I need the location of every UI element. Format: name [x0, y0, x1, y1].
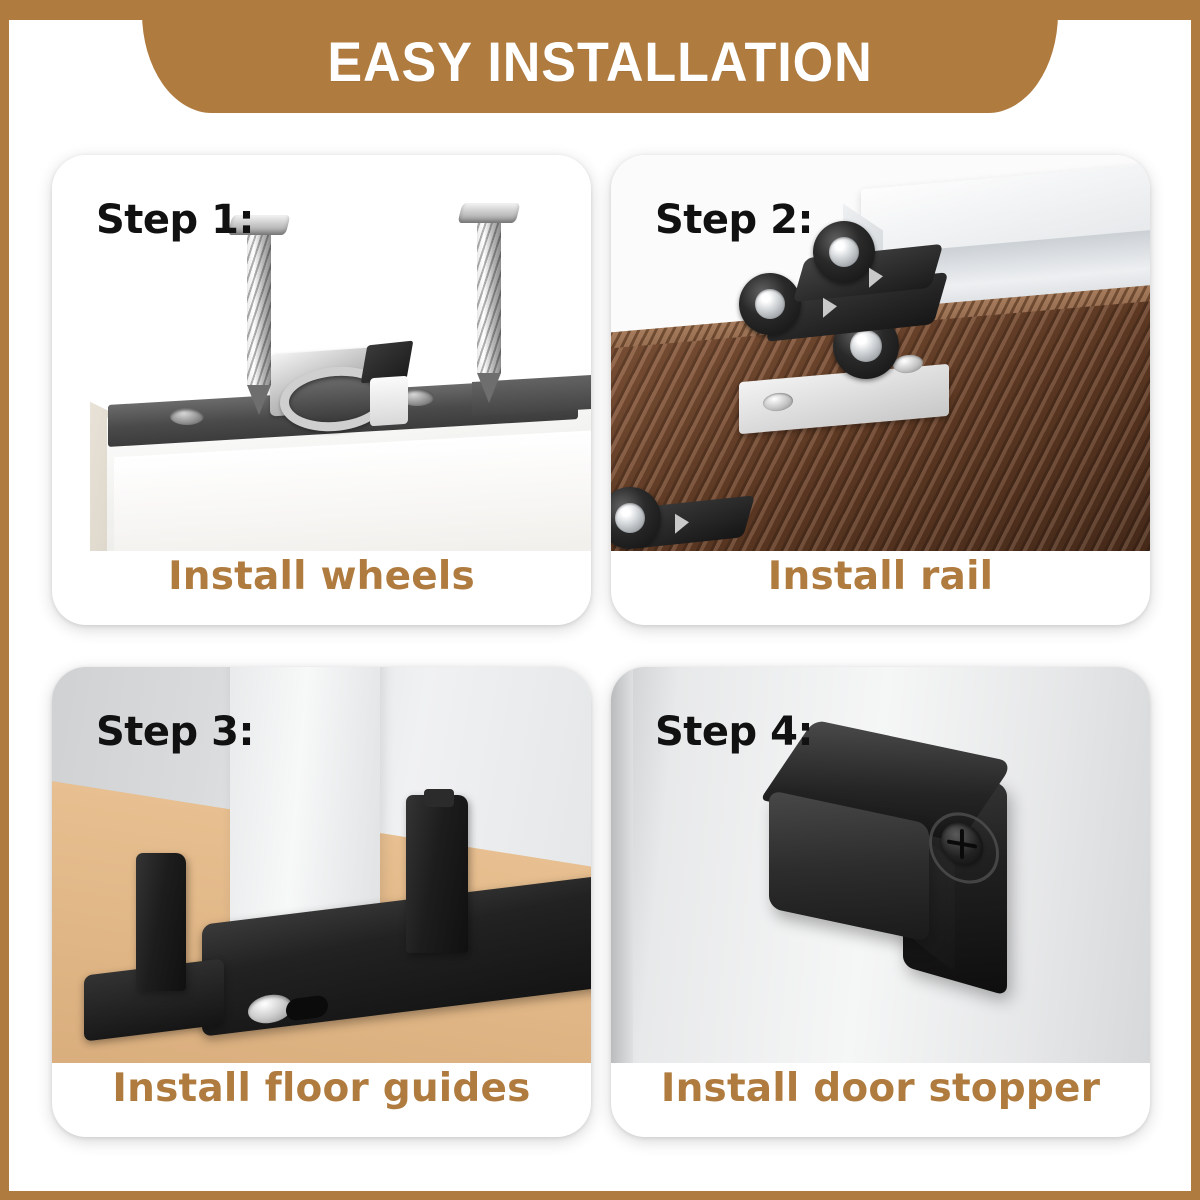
step-1-label: Step 1:: [96, 197, 254, 243]
floor-guide-post-left: [136, 853, 186, 991]
screw-head: [458, 203, 521, 223]
step-2-caption: Install rail: [611, 554, 1150, 599]
step-card-2[interactable]: Step 2: Install rail: [611, 155, 1150, 625]
screw-shaft: [247, 235, 271, 385]
white-clip: [370, 376, 408, 427]
screw-left-icon: [242, 215, 276, 415]
screw-shaft: [477, 223, 501, 373]
floor-guide-post-right: [406, 795, 468, 953]
carriage-arrow-1-icon: [823, 296, 837, 317]
step-3-label: Step 3:: [96, 709, 254, 755]
step-3-caption: Install floor guides: [52, 1066, 591, 1111]
carriage-arrow-3-icon: [675, 512, 689, 533]
floor-guide-post-cap: [424, 789, 454, 807]
roller-wheel-rear: [813, 221, 875, 283]
steps-grid: Step 1: Install wheels: [52, 155, 1150, 1157]
panel-left-edge: [611, 667, 633, 1063]
infographic-page: EASY INSTALLATION: [0, 0, 1200, 1200]
step-card-3[interactable]: Step 3: Install floor guides: [52, 667, 591, 1137]
step-4-label: Step 4:: [655, 709, 813, 755]
step-1-caption: Install wheels: [52, 554, 591, 599]
screw-tip: [477, 373, 501, 403]
roller-wheel-left: [739, 273, 801, 335]
step-card-1[interactable]: Step 1: Install wheels: [52, 155, 591, 625]
step-2-label: Step 2:: [655, 197, 813, 243]
step-4-caption: Install door stopper: [611, 1066, 1150, 1111]
step-card-4[interactable]: Step 4: Install door stopper: [611, 667, 1150, 1137]
screw-hole-left: [170, 408, 204, 425]
header-banner: EASY INSTALLATION: [9, 9, 1191, 121]
screw-right-icon: [472, 203, 506, 403]
page-title: EASY INSTALLATION: [50, 9, 1149, 113]
screw-tip: [247, 385, 271, 415]
carriage-arrow-2-icon: [869, 266, 883, 287]
